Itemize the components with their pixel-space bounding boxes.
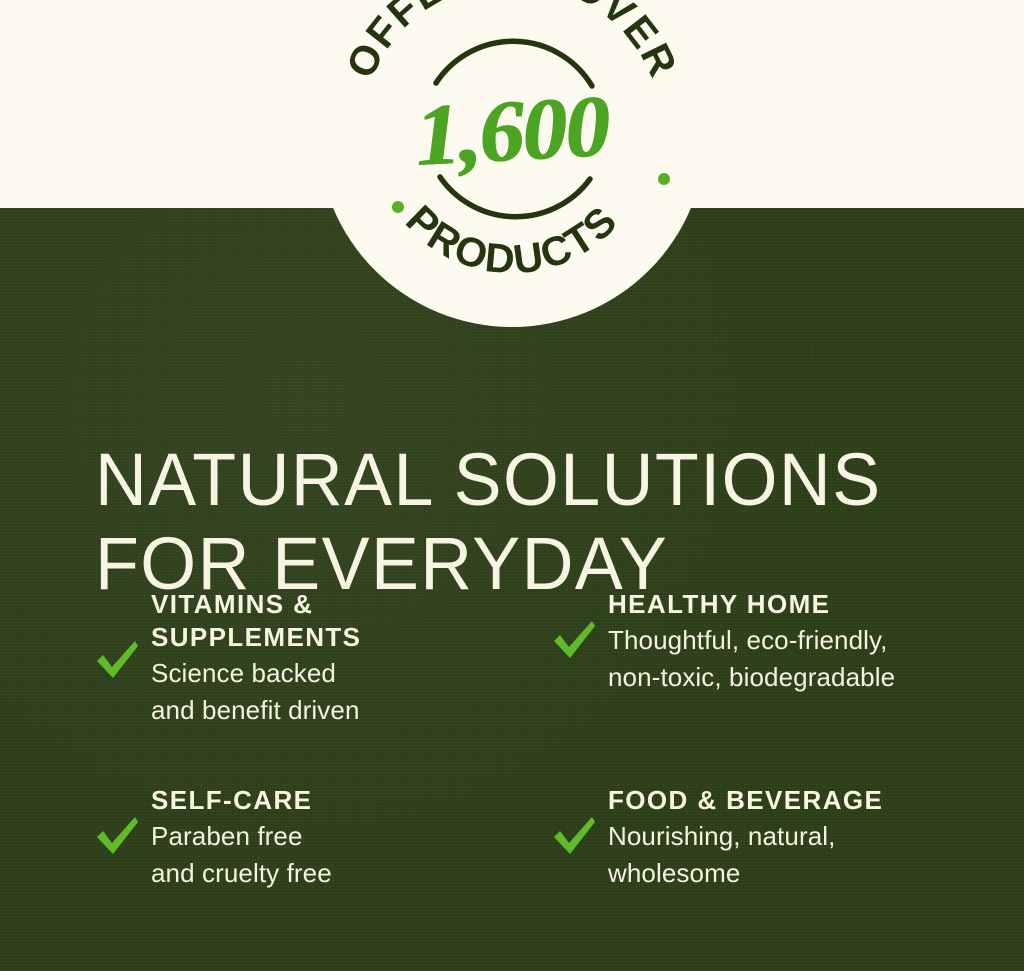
feature-title: SELF-CARE (151, 784, 512, 817)
badge-dot-right-icon (658, 173, 670, 185)
feature-item-vitamins-supplements: VITAMINS & SUPPLEMENTS Science backed an… (0, 588, 512, 729)
feature-text-block: VITAMINS & SUPPLEMENTS Science backed an… (151, 588, 512, 729)
badge-svg: OFFERING OVER PRODUCTS (318, 0, 706, 327)
check-icon (550, 616, 598, 664)
feature-row-bottom: SELF-CARE Paraben free and cruelty free … (0, 784, 1024, 892)
badge-lower-swoosh-icon (440, 177, 590, 217)
badge-upper-swoosh-icon (436, 41, 592, 86)
feature-text-block: FOOD & BEVERAGE Nourishing, natural, who… (608, 784, 1024, 892)
feature-list: VITAMINS & SUPPLEMENTS Science backed an… (0, 588, 1024, 892)
feature-title: HEALTHY HOME (608, 588, 1024, 621)
page-title: NATURAL SOLUTIONS FOR EVERYDAY (95, 438, 882, 606)
feature-row-top: VITAMINS & SUPPLEMENTS Science backed an… (0, 588, 1024, 729)
feature-description: Paraben free and cruelty free (151, 818, 512, 892)
feature-description: Nourishing, natural, wholesome (608, 818, 1024, 892)
check-icon (93, 812, 141, 860)
feature-item-food-beverage: FOOD & BEVERAGE Nourishing, natural, who… (512, 784, 1024, 892)
feature-item-self-care: SELF-CARE Paraben free and cruelty free (0, 784, 512, 892)
feature-text-block: HEALTHY HOME Thoughtful, eco-friendly, n… (608, 588, 1024, 696)
feature-row-divider (0, 729, 1024, 784)
feature-title: FOOD & BEVERAGE (608, 784, 1024, 817)
check-icon (93, 636, 141, 684)
offering-over-badge: OFFERING OVER PRODUCTS 1,600 (318, 0, 706, 327)
feature-item-healthy-home: HEALTHY HOME Thoughtful, eco-friendly, n… (512, 588, 1024, 729)
feature-title: VITAMINS & SUPPLEMENTS (151, 588, 512, 654)
feature-text-block: SELF-CARE Paraben free and cruelty free (151, 784, 512, 892)
badge-bottom-arc-text: PRODUCTS (397, 196, 626, 282)
promo-poster: OFFERING OVER PRODUCTS 1,600 NATURAL SOL… (0, 0, 1024, 971)
badge-dot-left-icon (392, 201, 404, 213)
feature-description: Science backed and benefit driven (151, 655, 512, 729)
feature-description: Thoughtful, eco-friendly, non-toxic, bio… (608, 622, 1024, 696)
check-icon (550, 812, 598, 860)
